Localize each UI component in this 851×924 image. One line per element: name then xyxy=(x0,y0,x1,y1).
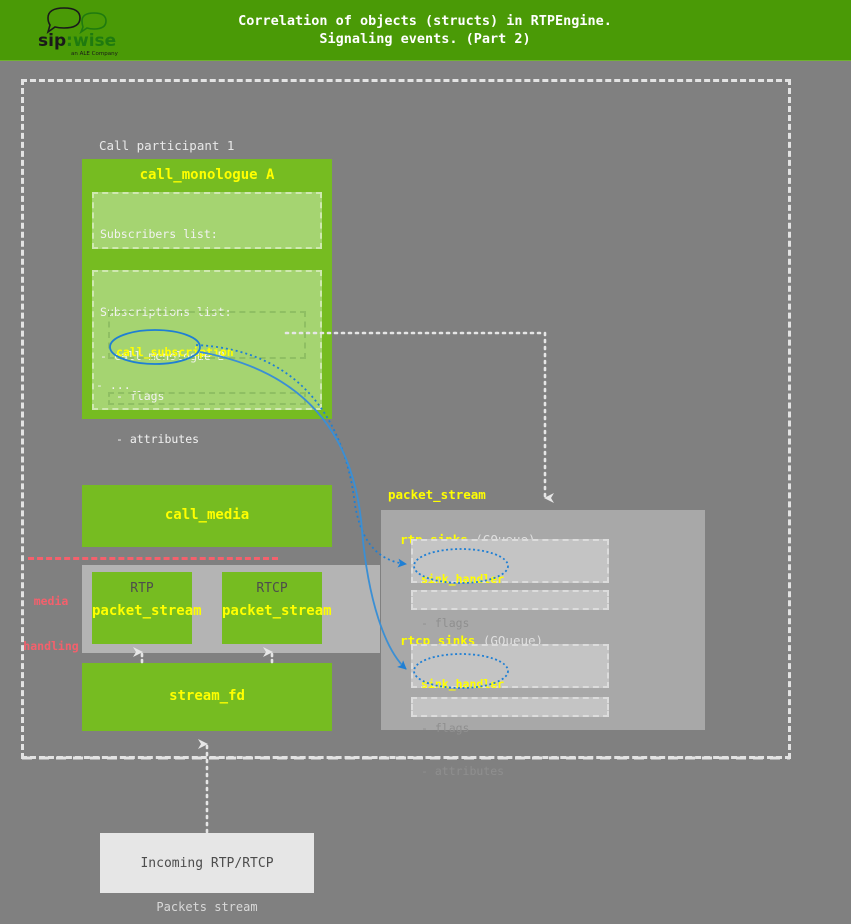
rtp-sink-empty-slot xyxy=(411,590,609,610)
rtp-packet-stream-box[interactable]: RTP packet_stream xyxy=(92,572,192,644)
incoming-rtp-rtcp-box[interactable]: Incoming RTP/RTCP xyxy=(100,833,314,893)
packets-stream-caption: Packets stream xyxy=(100,900,314,914)
logo-colon-text: : xyxy=(66,31,73,51)
rtcp-sink-handler-box[interactable]: sink_handler - flags - attributes xyxy=(411,644,609,688)
media-handling-label: media handling xyxy=(20,564,82,669)
subscribers-list-panel: Subscribers list: - call_monologue B - .… xyxy=(92,192,322,249)
rtp-kind-label: RTP xyxy=(92,581,192,596)
rtcp-kind-label: RTCP xyxy=(222,581,322,596)
call-subscription-field-1: - attributes xyxy=(116,432,298,447)
call-subscription-title: call_subscription xyxy=(116,345,298,360)
app-header: sip : wise an ALE Company Correlation of… xyxy=(0,0,851,61)
rtp-sink-handler-box[interactable]: sink_handler - flags - attributes xyxy=(411,539,609,583)
call-media-box[interactable]: call_media xyxy=(82,485,332,547)
rtcp-sink-handler-field-1: - attributes xyxy=(421,764,599,779)
incoming-rtp-rtcp-label: Incoming RTP/RTCP xyxy=(140,856,273,871)
subscribers-heading: Subscribers list: xyxy=(100,227,314,242)
call-participant-label: Call participant 1 xyxy=(99,138,234,153)
media-handling-line-2: handling xyxy=(20,639,82,654)
logo-sip-text: sip xyxy=(38,31,66,51)
rtcp-sink-handler-title: sink_handler xyxy=(421,677,599,692)
rtcp-sink-empty-slot xyxy=(411,697,609,717)
rtcp-packet-stream-title: packet_stream xyxy=(222,603,322,619)
rtcp-sink-handler-field-0: - flags xyxy=(421,721,599,736)
logo-tagline-text: an ALE Company xyxy=(71,51,119,57)
call-monologue-title: call_monologue A xyxy=(82,167,332,183)
logo-wise-text: wise xyxy=(73,31,116,51)
page-title-line-2: Signaling events. (Part 2) xyxy=(180,30,670,48)
subscriptions-item-2: - ... xyxy=(96,378,131,392)
stream-fd-title: stream_fd xyxy=(82,688,332,704)
call-subscription-empty-slot xyxy=(108,392,306,405)
stream-fd-box[interactable]: stream_fd xyxy=(82,663,332,731)
sipwise-logo: sip : wise an ALE Company xyxy=(30,4,130,58)
media-handling-line-1: media xyxy=(20,594,82,609)
packet-stream-panel-title: packet_stream xyxy=(388,487,486,502)
call-media-title: call_media xyxy=(82,507,332,523)
page-title: Correlation of objects (structs) in RTPE… xyxy=(180,12,670,48)
rtp-sink-handler-title: sink_handler xyxy=(421,572,599,587)
media-handling-divider xyxy=(28,557,278,560)
page-title-line-1: Correlation of objects (structs) in RTPE… xyxy=(180,12,670,30)
call-subscription-box[interactable]: call_subscription - flags - attributes xyxy=(108,311,306,359)
rtp-packet-stream-title: packet_stream xyxy=(92,603,192,619)
rtcp-packet-stream-box[interactable]: RTCP packet_stream xyxy=(222,572,322,644)
